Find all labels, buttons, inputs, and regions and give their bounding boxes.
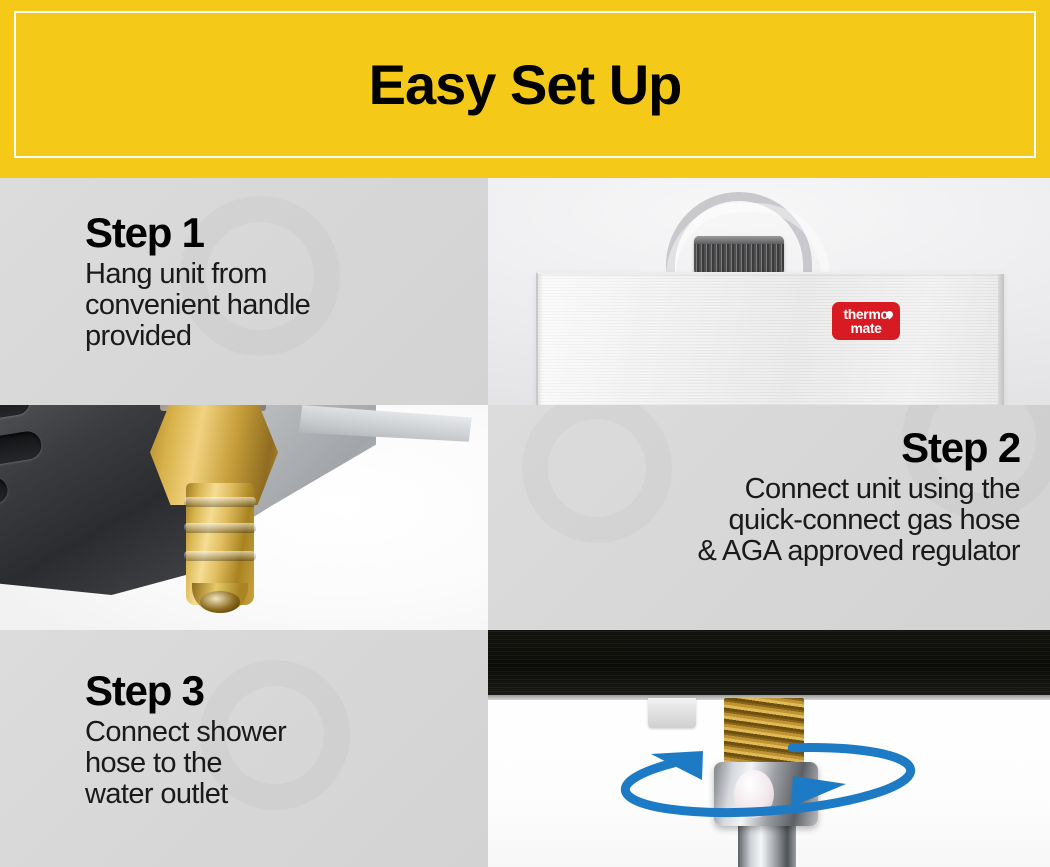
watermark-blob xyxy=(522,405,672,543)
step-1-text-panel: Step 1 Hang unit from convenient handle … xyxy=(0,178,488,405)
step-3-description-line-3: water outlet xyxy=(85,779,286,810)
step-1-description-line-3: provided xyxy=(85,321,310,352)
step-3-heading: Step 3 xyxy=(85,670,286,713)
logo-line-2: mate xyxy=(850,322,881,335)
step-row-2: Step 2 Connect unit using the quick-conn… xyxy=(0,405,1050,630)
easy-set-up-infographic: Easy Set Up Step 1 Hang unit from conven… xyxy=(0,0,1050,867)
step-1-description-line-1: Hang unit from xyxy=(85,259,310,290)
burner-slot xyxy=(0,405,31,433)
step-2-photo-panel xyxy=(0,405,488,630)
burner-slot xyxy=(0,429,43,480)
step-1-text-block: Step 1 Hang unit from convenient handle … xyxy=(85,212,310,352)
stem-ring xyxy=(184,551,256,561)
step-3-photo-panel xyxy=(488,630,1050,867)
step-3-description-line-2: hose to the xyxy=(85,748,286,779)
step-1-description: Hang unit from convenient handle provide… xyxy=(85,259,310,352)
step-2-text-block: Step 2 Connect unit using the quick-conn… xyxy=(697,427,1020,567)
thermomate-logo: thermo mate xyxy=(832,302,900,340)
step-2-description-line-1: Connect unit using the xyxy=(697,474,1020,505)
step-2-description: Connect unit using the quick-connect gas… xyxy=(697,474,1020,567)
step-2-text-panel: Step 2 Connect unit using the quick-conn… xyxy=(488,405,1050,630)
burner-slot xyxy=(0,476,9,520)
step-1-heading: Step 1 xyxy=(85,212,310,255)
stem-ring xyxy=(184,497,256,507)
step-1-description-line-2: convenient handle xyxy=(85,290,310,321)
step-2-description-line-2: quick-connect gas hose xyxy=(697,505,1020,536)
header-banner: Easy Set Up xyxy=(0,0,1050,178)
step-2-heading: Step 2 xyxy=(697,427,1020,470)
stem-bore xyxy=(200,591,240,613)
step-row-1: Step 1 Hang unit from convenient handle … xyxy=(0,178,1050,405)
step-3-text-block: Step 3 Connect shower hose to the water … xyxy=(85,670,286,810)
stem-ring xyxy=(184,523,256,533)
step-1-photo-panel: thermo mate xyxy=(488,178,1050,405)
page-title: Easy Set Up xyxy=(0,0,1050,174)
rotation-arrows xyxy=(488,630,1050,867)
step-2-description-line-3: & AGA approved regulator xyxy=(697,536,1020,567)
step-3-description: Connect shower hose to the water outlet xyxy=(85,717,286,810)
knurled-collar xyxy=(694,236,784,276)
step-3-text-panel: Step 3 Connect shower hose to the water … xyxy=(0,630,488,867)
rotation-ellipse xyxy=(623,739,913,821)
step-row-3: Step 3 Connect shower hose to the water … xyxy=(0,630,1050,867)
step-3-description-line-1: Connect shower xyxy=(85,717,286,748)
heater-body-panel xyxy=(536,272,1004,405)
